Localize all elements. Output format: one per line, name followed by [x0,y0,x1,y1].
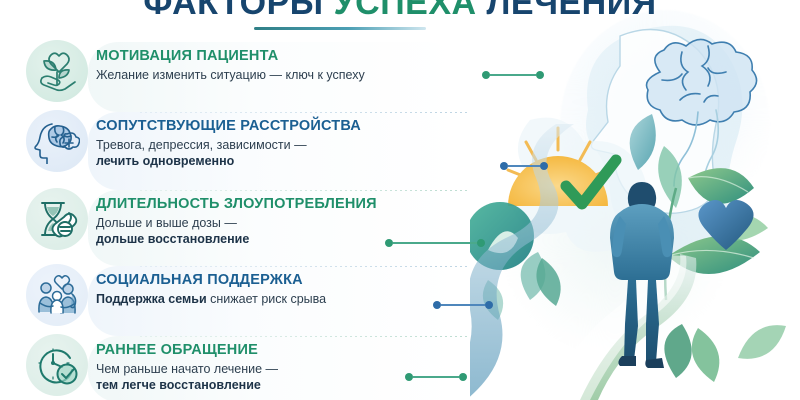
connector-line-5 [405,372,467,382]
connector-dot-end [459,373,467,381]
connector-line-1 [482,70,544,80]
factor-subtext-line1: снижает риск срыва [207,292,326,306]
text-cell: РАННЕЕ ОБРАЩЕНИЕ Чем раньше начато лечен… [96,334,520,393]
connector-bar [393,242,477,244]
text-cell: СОПУТСТВУЮЩИЕ РАССТРОЙСТВА Тревога, депр… [96,110,520,169]
icon-cell [0,334,96,396]
connector-dot-start [385,239,393,247]
factor-subtext: Тревога, депрессия, зависимости — лечить… [96,138,520,169]
title-part-3: ЛЕЧЕНИЯ [487,0,657,22]
family-heart-icon [26,264,88,326]
connector-dot-start [405,373,413,381]
factor-row-social-support[interactable]: СОЦИАЛЬНАЯ ПОДДЕРЖКА Поддержка семьи сни… [0,264,520,334]
factor-subtext-line1-bold: Поддержка семьи [96,292,207,306]
factor-heading: МОТИВАЦИЯ ПАЦИЕНТА [96,48,520,65]
factor-row-early-treatment[interactable]: РАННЕЕ ОБРАЩЕНИЕ Чем раньше начато лечен… [0,334,520,400]
connector-dot-start [433,301,441,309]
connector-dot-end [540,162,548,170]
connector-bar [490,74,536,76]
factor-subtext-line2-bold: тем легче восстановление [96,378,261,392]
clock-checkmark-icon [26,334,88,396]
factor-heading: РАННЕЕ ОБРАЩЕНИЕ [96,342,520,359]
page-title: ФАКТОРЫ УСПЕХА ЛЕЧЕНИЯ [0,0,800,20]
factor-subtext-line2-bold: лечить одновременно [96,154,234,168]
factor-row-comorbid[interactable]: СОПУТСТВУЮЩИЕ РАССТРОЙСТВА Тревога, депр… [0,110,520,188]
connector-dot-end [536,71,544,79]
connector-dot-end [485,301,493,309]
factor-subtext-line1: Чем раньше начато лечение — [96,362,278,376]
factor-subtext-line1: Дольше и выше дозы — [96,216,237,230]
icon-cell [0,264,96,326]
factors-list: МОТИВАЦИЯ ПАЦИЕНТА Желание изменить ситу… [0,40,520,400]
connector-line-4 [433,300,493,310]
factor-heading: ДЛИТЕЛЬНОСТЬ ЗЛОУПОТРЕБЛЕНИЯ [96,196,520,213]
connector-dot-start [500,162,508,170]
connector-dot-end [477,239,485,247]
infographic-canvas: ФАКТОРЫ УСПЕХА ЛЕЧЕНИЯ [0,0,800,400]
factor-row-duration[interactable]: ДЛИТЕЛЬНОСТЬ ЗЛОУПОТРЕБЛЕНИЯ Дольше и вы… [0,188,520,264]
connector-line-3 [385,238,485,248]
title-part-2: УСПЕХА [334,0,477,22]
factor-subtext-line1: Желание изменить ситуацию — ключ к успех… [96,68,365,82]
title-underline [254,27,426,30]
factor-heading: СОПУТСТВУЮЩИЕ РАССТРОЙСТВА [96,118,520,135]
hand-holding-plant-heart-icon [26,40,88,102]
connector-bar [441,304,485,306]
icon-cell [0,110,96,172]
head-brain-medical-cross-icon [26,110,88,172]
factor-subtext-line2-bold: дольше восстановление [96,232,249,246]
connector-line-2 [500,161,548,171]
factor-subtext: Желание изменить ситуацию — ключ к успех… [96,68,520,84]
connector-dot-start [482,71,490,79]
connector-bar [413,376,459,378]
icon-cell [0,40,96,102]
icon-cell [0,188,96,250]
factor-subtext-line1: Тревога, депрессия, зависимости — [96,138,307,152]
text-cell: МОТИВАЦИЯ ПАЦИЕНТА Желание изменить ситу… [96,40,520,84]
hourglass-pill-icon [26,188,88,250]
factor-heading: СОЦИАЛЬНАЯ ПОДДЕРЖКА [96,272,520,289]
title-part-1: ФАКТОРЫ [143,0,323,22]
connector-bar [508,165,540,167]
factor-row-motivation[interactable]: МОТИВАЦИЯ ПАЦИЕНТА Желание изменить ситу… [0,40,520,110]
